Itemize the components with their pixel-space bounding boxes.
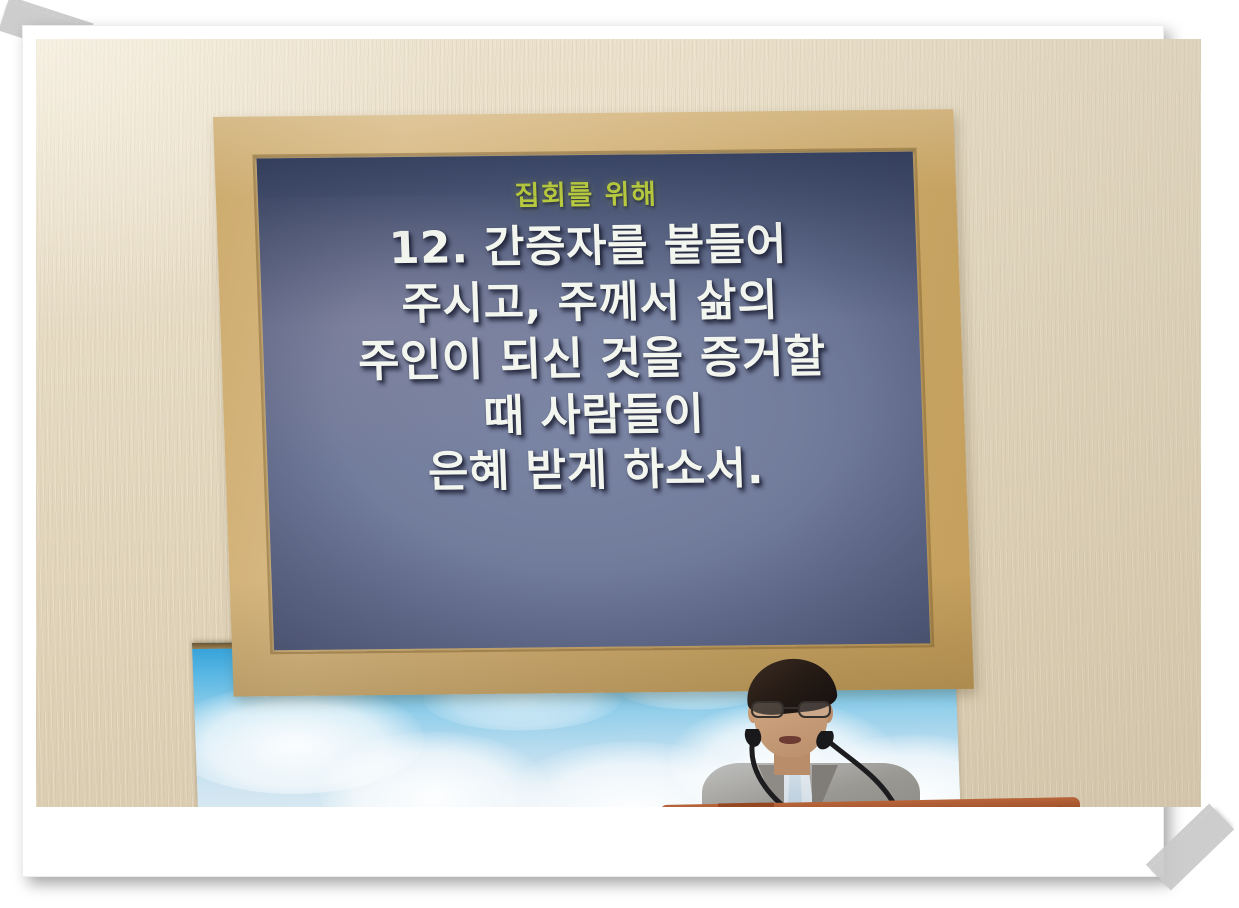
slide-line-5: 은혜 받게 하소서. <box>277 440 915 503</box>
projection-screen: 집회를 위해 12. 간증자를 붙들어 주시고, 주께서 삶의 주인이 되신 것… <box>257 152 931 651</box>
lens-left <box>751 701 784 718</box>
microphone-right <box>806 731 946 807</box>
slide-body: 12. 간증자를 붙들어 주시고, 주께서 삶의 주인이 되신 것을 증거할 때… <box>269 215 915 502</box>
projection-screen-assembly: 집회를 위해 12. 간증자를 붙들어 주시고, 주께서 삶의 주인이 되신 것… <box>213 109 974 696</box>
slide-text-block: 집회를 위해 12. 간증자를 붙들어 주시고, 주께서 삶의 주인이 되신 것… <box>257 178 925 503</box>
wooden-podium <box>660 801 1080 807</box>
podium-notch <box>718 802 774 807</box>
slide-line-2: 주시고, 주께서 삶의 <box>271 271 909 334</box>
eyeglasses <box>749 701 835 718</box>
photograph: 집회를 위해 12. 간증자를 붙들어 주시고, 주께서 삶의 주인이 되신 것… <box>36 39 1201 807</box>
lens-right <box>798 701 831 718</box>
slide-line-4: 때 사람들이 <box>275 384 913 447</box>
slide-line-3: 주인이 되신 것을 증거할 <box>273 327 911 391</box>
slide-line-1: 12. 간증자를 붙들어 <box>269 215 907 278</box>
glasses-bridge <box>784 707 798 709</box>
photo-frame: 집회를 위해 12. 간증자를 붙들어 주시고, 주께서 삶의 주인이 되신 것… <box>22 25 1164 877</box>
screenshot-stage: 집회를 위해 12. 간증자를 붙들어 주시고, 주께서 삶의 주인이 되신 것… <box>0 0 1239 908</box>
slide-title: 집회를 위해 <box>267 178 904 214</box>
